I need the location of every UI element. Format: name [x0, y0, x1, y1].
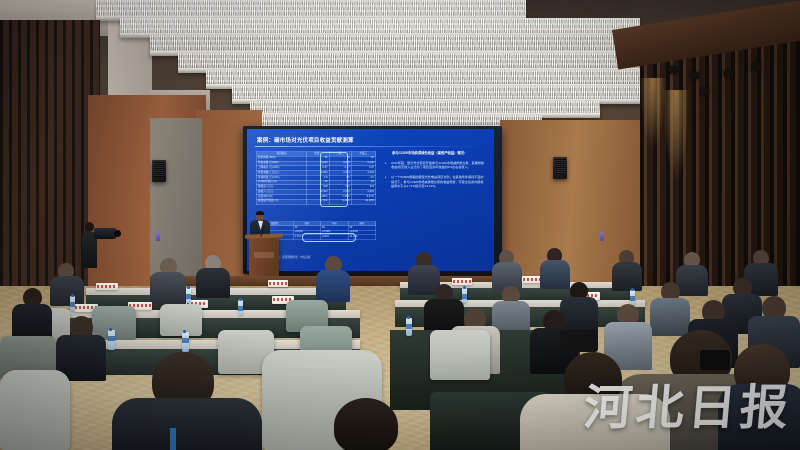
person-torso — [316, 270, 350, 302]
cell: 216 — [329, 185, 351, 190]
ceiling-spotlight — [690, 72, 699, 79]
row-label: 年发电量 (万kWh) — [257, 161, 307, 166]
row-label: CCER价格 (元/t) — [257, 180, 307, 185]
audience-member — [650, 282, 690, 334]
ceiling-spotlight — [724, 70, 733, 77]
person-torso — [520, 394, 670, 450]
slide-right-heading: 参与CCER市场获得绿色收益（碳资产收益）情况： — [385, 151, 485, 156]
name-placard — [522, 276, 542, 283]
audience-member — [50, 263, 84, 303]
chandelier-panel — [206, 70, 706, 85]
cell: 9.42% — [329, 199, 351, 204]
cell: 2,294 — [307, 171, 329, 176]
foreground-audience-member — [718, 344, 800, 450]
cell: 4.71% — [307, 199, 329, 204]
phone-device — [560, 330, 598, 352]
table-row: 年减排量 (万tCO2)3.63.63.6 — [257, 175, 376, 180]
person-head — [334, 398, 398, 450]
person-torso — [50, 276, 84, 306]
cell: 60 — [329, 180, 351, 185]
conference-hall-photo: 案例：碳市场对光伏项目收益贡献测算 项目指标 方案一 方案二 方案三 装机容量 … — [0, 0, 800, 450]
chandelier-panel — [120, 18, 640, 34]
table-row: 年发电量 (万kWh)6,2006,2006,200 — [257, 161, 376, 166]
cell: 0.37 — [329, 166, 351, 171]
water-bottle — [186, 288, 191, 303]
table2-col-header: 中价 — [321, 222, 348, 226]
podium-emblem — [254, 252, 274, 258]
row-label: 装机容量 (MW) — [257, 156, 307, 161]
cell: 14.12% — [348, 235, 375, 239]
lanyard — [170, 428, 176, 450]
presentation-screen: 案例：碳市场对光伏项目收益贡献测算 项目指标 方案一 方案二 方案三 装机容量 … — [247, 129, 494, 271]
water-bottle — [406, 318, 412, 336]
table-col-header: 方案三 — [351, 152, 375, 157]
row-label: 收益提升幅度 (%) — [257, 199, 307, 204]
phone-device — [700, 350, 730, 370]
slide-title-rule — [255, 146, 483, 147]
row-label: 总收入 (万元) — [257, 190, 307, 195]
table2-header-row: 敏感性 低价 中价 高价 — [257, 222, 376, 226]
cell: 4.71% — [293, 235, 320, 239]
cell: 3.6 — [329, 175, 351, 180]
cell: 50 — [329, 156, 351, 161]
foreground-chair — [0, 370, 70, 450]
camera-operator-head — [85, 222, 94, 232]
wall-indicator-left — [156, 232, 160, 241]
wall-speaker-right — [553, 157, 567, 179]
cell: 108 — [307, 185, 329, 190]
cell: 14.12% — [351, 199, 375, 204]
table-col-header: 方案一 — [307, 152, 329, 157]
water-bottle — [182, 332, 189, 352]
spotlight-glow — [663, 90, 689, 180]
cell: 50 — [307, 156, 329, 161]
foreground-audience-member — [112, 352, 262, 450]
audience-chair — [430, 330, 490, 380]
cell: 60 — [321, 226, 348, 230]
table-row: CCER价格 (元/t)306090 — [257, 180, 376, 185]
cell: 2,294 — [329, 171, 351, 176]
podium — [249, 236, 279, 280]
table-row: 总收入 (万元)2,4022,5102,618 — [257, 190, 376, 195]
cell: 2,294 — [351, 171, 375, 176]
slide-data-table: 项目指标 方案一 方案二 方案三 装机容量 (MW)505050 年发电量 (万… — [256, 151, 376, 205]
audience-member — [316, 256, 350, 300]
audience-member — [150, 258, 186, 302]
foreground-audience-member — [520, 352, 670, 450]
cell: 90 — [351, 180, 375, 185]
cell: 7.45% — [329, 195, 351, 200]
cell: 3.6 — [307, 175, 329, 180]
name-placard — [268, 280, 288, 287]
ceiling-spotlight — [668, 66, 677, 73]
ceiling-spotlight — [752, 63, 761, 70]
person-torso — [612, 262, 642, 291]
table-row: 年售电收入 (万元)2,2942,2942,294 — [257, 171, 376, 176]
cell: 9.42% — [321, 235, 348, 239]
presenter-hair — [256, 211, 264, 215]
cell: 3.6 — [351, 175, 375, 180]
table2-row-highlight — [302, 233, 356, 242]
cell: 2,618 — [351, 190, 375, 195]
audience-member — [492, 250, 522, 290]
person-torso — [718, 384, 800, 450]
cell: 50 — [351, 156, 375, 161]
cell: 0.37 — [351, 166, 375, 171]
cell: +0.94% — [348, 230, 375, 234]
cell: 6.82% — [307, 195, 329, 200]
audience-member — [56, 316, 106, 378]
slide-bullet: 以一个50MW规模的典型光伏电站项目为例，在其他条件保持不变的情况下，参与CCE… — [385, 175, 485, 189]
name-placard — [96, 283, 118, 290]
table-row: 项目IRR (%)6.82%7.45%8.07% — [257, 195, 376, 200]
table-col-header: 项目指标 — [257, 152, 307, 157]
cell: +0.31% — [293, 230, 320, 234]
video-camera — [94, 228, 116, 239]
cell: 6,200 — [351, 161, 375, 166]
table-row: 上网电价 (元/kWh)0.370.370.37 — [257, 166, 376, 171]
cell: 30 — [293, 226, 320, 230]
cell: +0.63% — [321, 230, 348, 234]
table-column-highlight — [320, 152, 348, 207]
audience-chair — [160, 304, 202, 336]
row-label: 年售电收入 (万元) — [257, 171, 307, 176]
foreground-audience-member — [296, 398, 436, 450]
water-bottle — [70, 296, 75, 311]
water-bottle — [630, 290, 635, 305]
row-label: 年减排量 (万tCO2) — [257, 175, 307, 180]
ceiling-spotlight — [700, 88, 709, 95]
audience-member — [612, 250, 642, 290]
audience-member — [196, 255, 230, 297]
table-header-row: 项目指标 方案一 方案二 方案三 — [257, 152, 376, 157]
table2-col-header: 高价 — [348, 222, 375, 226]
person-torso — [112, 398, 262, 450]
table-row: 装机容量 (MW)505050 — [257, 156, 376, 161]
person-torso — [150, 272, 186, 304]
wall-indicator-right — [600, 232, 604, 241]
camera-lens-icon — [114, 230, 121, 237]
cell: 30 — [307, 180, 329, 185]
table2-col-header: 低价 — [293, 222, 320, 226]
cell: 324 — [351, 185, 375, 190]
row-label: 碳收益 (万元) — [257, 185, 307, 190]
table-col-header: 方案二 — [329, 152, 351, 157]
chandelier-panel — [96, 0, 526, 17]
cell: 2,402 — [307, 190, 329, 195]
water-bottle — [108, 330, 115, 350]
table2-row: 碳价 (元/t)306090 — [257, 226, 376, 230]
wall-speaker-left — [152, 160, 166, 182]
water-bottle — [238, 300, 243, 315]
audience-member — [12, 288, 52, 340]
slide-bullet: 2013年起，部分光伏项目开始参与CCER市场减排量交易，其碳排放收益/核定收入… — [385, 161, 485, 170]
chandelier-panel — [232, 86, 662, 100]
table-row: 碳收益 (万元)108216324 — [257, 185, 376, 190]
slide-right-panel: 参与CCER市场获得绿色收益（碳资产收益）情况： 2013年起，部分光伏项目开始… — [385, 151, 485, 189]
cell: 6,200 — [307, 161, 329, 166]
slide-title: 案例：碳市场对光伏项目收益贡献测算 — [257, 136, 354, 144]
cell: 0.37 — [307, 166, 329, 171]
person-torso — [196, 268, 230, 298]
cell: 6,200 — [329, 161, 351, 166]
row-label: 项目IRR (%) — [257, 195, 307, 200]
cell: 2,510 — [329, 190, 351, 195]
row-label: 上网电价 (元/kWh) — [257, 166, 307, 171]
cell: 8.07% — [351, 195, 375, 200]
table-row: 收益提升幅度 (%)4.71%9.42%14.12% — [257, 199, 376, 204]
cell: 90 — [348, 226, 375, 230]
